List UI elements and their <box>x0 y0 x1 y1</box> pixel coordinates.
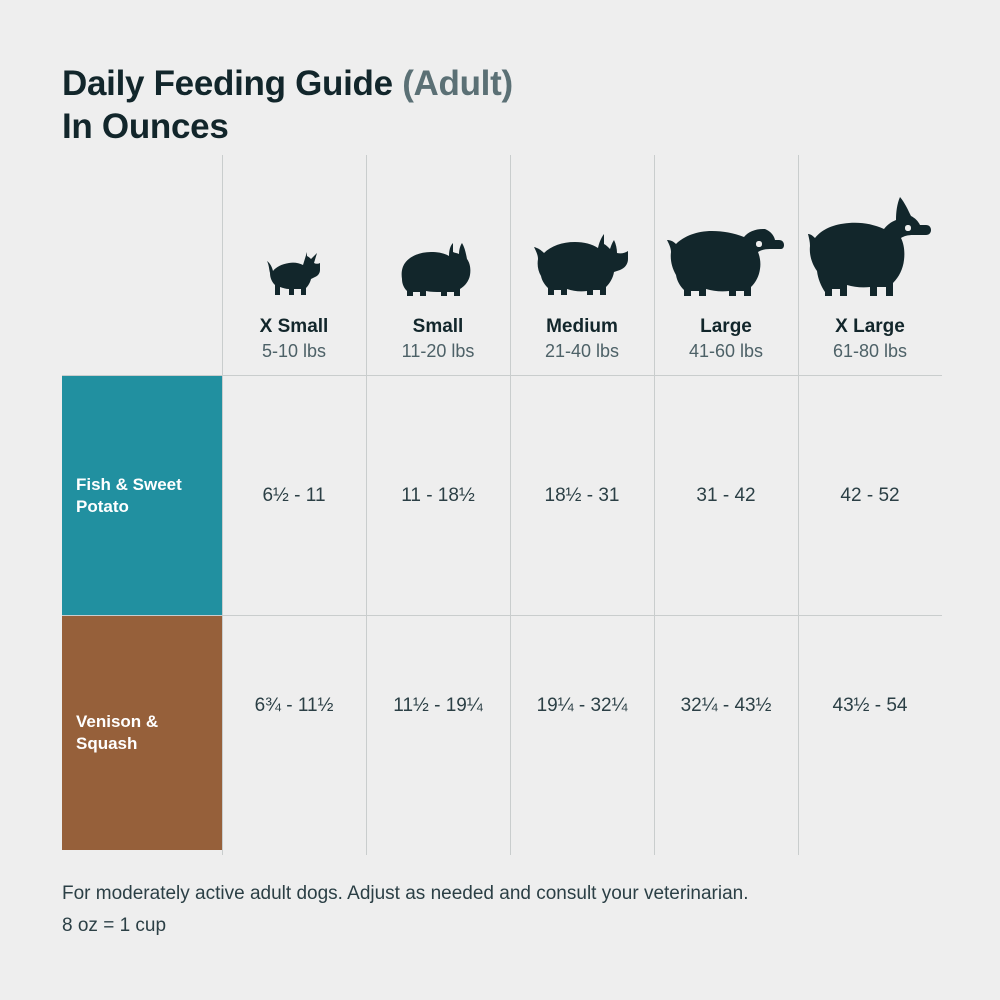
labrador-icon <box>654 155 798 301</box>
column-header-weight: 21-40 lbs <box>545 339 619 363</box>
table-row: 6¾ - 11½ 11½ - 19¼ 19¼ - 32¼ 32¼ - 43½ 4… <box>222 616 942 796</box>
column-header-x-large: X Large 61-80 lbs <box>798 155 942 375</box>
cell-value: 19¼ - 32¼ <box>510 616 654 796</box>
footnote-line-2: 8 oz = 1 cup <box>62 910 962 942</box>
column-header-name: X Large <box>835 315 905 339</box>
title-line-2: In Ounces <box>62 105 762 148</box>
cell-value: 11 - 18½ <box>366 376 510 615</box>
column-header-name: X Small <box>260 315 329 339</box>
column-header-large: Large 41-60 lbs <box>654 155 798 375</box>
cell-value: 43½ - 54 <box>798 616 942 796</box>
title-line-1: Daily Feeding Guide (Adult) <box>62 62 762 105</box>
cell-value: 42 - 52 <box>798 376 942 615</box>
column-header-weight: 11-20 lbs <box>402 339 475 363</box>
row-label-text: Fish & Sweet Potato <box>76 474 182 518</box>
column-header-name: Medium <box>546 315 618 339</box>
column-header-weight: 41-60 lbs <box>689 339 763 363</box>
page-title: Daily Feeding Guide (Adult) In Ounces <box>62 62 762 148</box>
title-qualifier: (Adult) <box>402 64 513 103</box>
bulldog-icon <box>366 155 510 301</box>
row-label-line-1: Venison & <box>76 711 158 733</box>
cell-value: 18½ - 31 <box>510 376 654 615</box>
footnote: For moderately active adult dogs. Adjust… <box>62 878 962 942</box>
column-header-name: Small <box>413 315 464 339</box>
row-label-venison-squash: Venison & Squash <box>62 616 222 850</box>
table-row: 6½ - 11 11 - 18½ 18½ - 31 31 - 42 42 - 5… <box>222 376 942 615</box>
chihuahua-icon <box>222 155 366 301</box>
row-label-line-2: Potato <box>76 496 182 518</box>
table-header-row: X Small 5-10 lbs Small 11-20 lbs <box>222 155 942 375</box>
cell-value: 32¼ - 43½ <box>654 616 798 796</box>
medium-dog-icon <box>510 155 654 301</box>
feeding-guide-chart: Daily Feeding Guide (Adult) In Ounces X … <box>0 0 1000 1000</box>
title-main: Daily Feeding Guide <box>62 64 402 103</box>
column-header-weight: 5-10 lbs <box>262 339 326 363</box>
column-header-x-small: X Small 5-10 lbs <box>222 155 366 375</box>
row-label-fish-sweet-potato: Fish & Sweet Potato <box>62 376 222 615</box>
feeding-table: X Small 5-10 lbs Small 11-20 lbs <box>62 155 942 855</box>
row-label-line-1: Fish & Sweet <box>76 474 182 496</box>
row-label-line-2: Squash <box>76 733 158 755</box>
column-header-name: Large <box>700 315 752 339</box>
column-header-medium: Medium 21-40 lbs <box>510 155 654 375</box>
row-label-text: Venison & Squash <box>76 711 158 755</box>
footnote-line-1: For moderately active adult dogs. Adjust… <box>62 878 962 910</box>
cell-value: 11½ - 19¼ <box>366 616 510 796</box>
column-header-weight: 61-80 lbs <box>833 339 907 363</box>
cell-value: 31 - 42 <box>654 376 798 615</box>
cell-value: 6½ - 11 <box>222 376 366 615</box>
column-header-small: Small 11-20 lbs <box>366 155 510 375</box>
cell-value: 6¾ - 11½ <box>222 616 366 796</box>
great-dane-icon <box>798 155 942 301</box>
